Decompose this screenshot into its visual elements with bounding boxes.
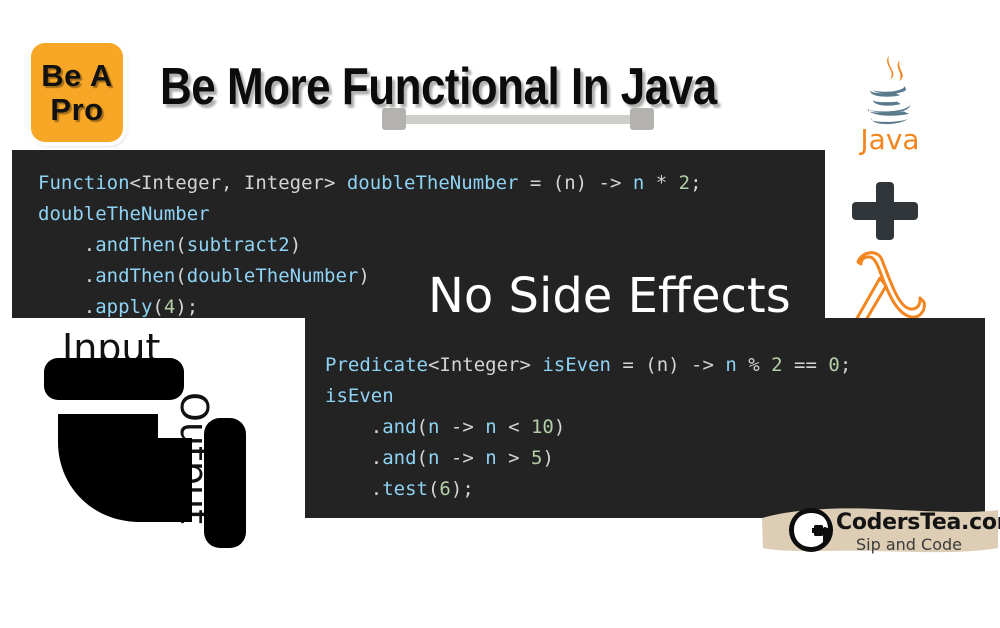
be-a-pro-badge: Be A Pro [31, 43, 123, 142]
code-token: . [325, 416, 382, 438]
code-token: -> [439, 447, 485, 469]
code-token: 5 [531, 447, 542, 469]
coderstea-tagline: Sip and Code [856, 535, 962, 554]
code-token: and [382, 447, 416, 469]
code-token: 6 [439, 478, 450, 500]
code-token: 4 [164, 296, 175, 318]
coderstea-name: CodersTea.com [836, 510, 1000, 535]
code-token: % [737, 354, 771, 376]
java-logo-icon [849, 52, 931, 130]
code-token: = (n) -> [518, 172, 632, 194]
code-token: == [783, 354, 829, 376]
code-token: n [633, 172, 644, 194]
code-token: isEven [325, 385, 394, 407]
code-token: 10 [531, 416, 554, 438]
code-token: ( [417, 447, 428, 469]
code-token: and [382, 416, 416, 438]
badge-line-1: Be A [41, 60, 112, 91]
java-wordmark: Java [845, 126, 935, 154]
code-token: ; [690, 172, 701, 194]
code-token: n [485, 416, 496, 438]
code-token: doubleTheNumber [38, 203, 210, 225]
code-token: andThen [95, 234, 175, 256]
code-token: n [725, 354, 736, 376]
code-line: doubleTheNumber [38, 199, 825, 230]
code-token: . [38, 265, 95, 287]
code-token: . [325, 478, 382, 500]
no-side-effects-callout: No Side Effects [428, 268, 791, 324]
plus-icon [849, 180, 921, 242]
code-token: ; [840, 354, 851, 376]
code-token: ( [175, 234, 186, 256]
code-line: .and(n -> n < 10) [325, 412, 985, 443]
code-token: n [485, 447, 496, 469]
code-token: < [497, 416, 531, 438]
code-token: doubleTheNumber [347, 172, 519, 194]
lambda-icon [846, 246, 932, 324]
code-block-predicate: Predicate<Integer> isEven = (n) -> n % 2… [305, 318, 985, 518]
code-token: . [38, 296, 95, 318]
code-token: test [382, 478, 428, 500]
function-funnel-illustration [40, 322, 310, 567]
code-line: Predicate<Integer> isEven = (n) -> n % 2… [325, 350, 985, 381]
coderstea-logo[interactable]: CodersTea.com Sip and Code [760, 504, 1000, 558]
code-token: ) [290, 234, 301, 256]
divider-slider[interactable] [382, 108, 654, 130]
code-token: ) [358, 265, 369, 287]
code-token: isEven [542, 354, 611, 376]
code-token: ( [152, 296, 163, 318]
slider-handle-left[interactable] [382, 108, 406, 130]
code-token: . [38, 234, 95, 256]
coderstea-cup-logo-icon [788, 507, 834, 553]
code-token: ( [175, 265, 186, 287]
code-token: 2 [771, 354, 782, 376]
code-line: .test(6); [325, 474, 985, 505]
code-token: andThen [95, 265, 175, 287]
code-token: Predicate [325, 354, 428, 376]
code-token: ); [451, 478, 474, 500]
code-token: <Integer> [428, 354, 542, 376]
code-token: ) [554, 416, 565, 438]
code-line: isEven [325, 381, 985, 412]
code-token: -> [439, 416, 485, 438]
code-token: > [497, 447, 531, 469]
code-line: .and(n -> n > 5) [325, 443, 985, 474]
code-token: 0 [828, 354, 839, 376]
code-token: ) [542, 447, 553, 469]
code-token: doubleTheNumber [187, 265, 359, 287]
java-branding-column: Java [845, 52, 935, 154]
code-line: Function<Integer, Integer> doubleTheNumb… [38, 168, 825, 199]
code-token: apply [95, 296, 152, 318]
code-token: Function [38, 172, 130, 194]
code-token: n [428, 447, 439, 469]
code-token: ( [428, 478, 439, 500]
code-token: * [644, 172, 678, 194]
code-token: 2 [679, 172, 690, 194]
code-token: . [325, 447, 382, 469]
slider-handle-right[interactable] [630, 108, 654, 130]
code-token: subtract2 [187, 234, 290, 256]
code-token: ( [417, 416, 428, 438]
poster-canvas: Be A Pro Be More Functional In Java Java… [0, 0, 1000, 628]
code-token: = (n) -> [611, 354, 725, 376]
code-token: n [428, 416, 439, 438]
badge-line-2: Pro [50, 94, 103, 125]
code-token: <Integer, Integer> [130, 172, 347, 194]
code-token: ); [175, 296, 198, 318]
slider-track [394, 115, 642, 124]
code-line: .andThen(subtract2) [38, 230, 825, 261]
